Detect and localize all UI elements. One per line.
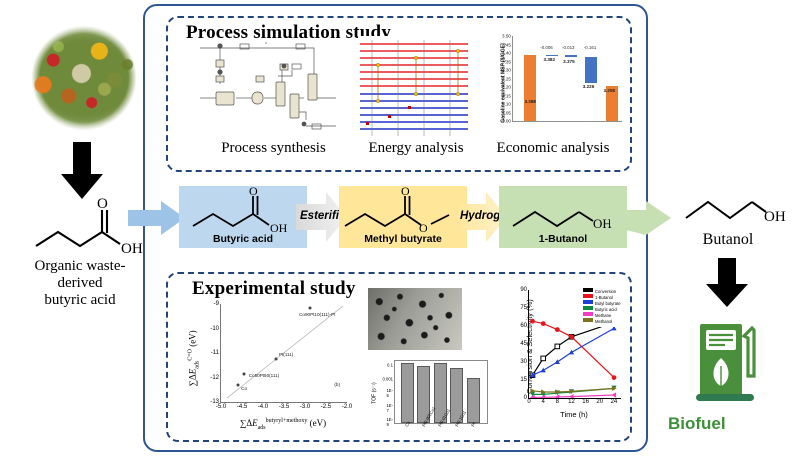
econ-ytick: 3.45 [502,42,511,47]
svg-text:O: O [249,186,258,198]
organic-waste-photo [20,22,148,134]
butanol-label: Butanol [668,231,788,249]
dft-xtick: -3.5 [279,404,289,410]
econ-ytick: 3.15 [502,93,511,98]
butanol-structure: OH [678,188,788,236]
kin-xtick: 4 [541,399,544,405]
source-label-line2: derived [0,275,160,292]
kinetics-legend: Conversion 1-Butanol Butyl butyrate Buty… [581,288,623,327]
kinetics-line-chart: Conversion & Selectivity (%) 0 15 30 45 … [502,286,630,436]
butyric-acid-skeletal: O OH [179,186,307,236]
econ-ytick: 3.00 [502,119,511,124]
legend-swatch-1-butanol [583,294,593,298]
dft-y-axis-label: ∑ΔEadsC=O (eV) [188,330,201,386]
tof-bar-co [401,363,414,423]
svg-text:O: O [97,196,108,212]
kinetics-plot-area: 0 15 30 45 60 75 90 0 4 8 12 16 20 24 [528,290,621,399]
dft-ytick: -12 [210,375,219,381]
down-arrow-icon-waste [60,142,104,200]
dft-xtick: -5.0 [216,404,226,410]
tof-ytick: 0.001 [383,376,393,381]
kin-ytick: 60 [520,323,527,329]
legend-swatch-methanol [583,318,593,322]
methyl-butyrate-skeletal: O O [339,186,467,236]
dft-xtick: -4.0 [258,404,268,410]
kinetics-x-axis-label: Time (h) [528,410,620,419]
econ-value-1: 3.382 [544,57,556,62]
econ-bar-delta-3 [585,57,597,82]
dft-point-label-pt111: Pt(111) [279,352,293,357]
reaction-label-butyric-acid: Butyric acid [179,233,307,245]
svg-text:O: O [401,186,410,198]
kin-xtick: 0 [527,399,530,405]
dft-ytick: -10 [210,326,219,332]
dft-point-label-co50pt50: Co50Pt50(111) [249,373,279,378]
source-label-line1: Organic waste- [0,258,160,275]
econ-bar-base [524,55,536,121]
economic-analysis-chart: Gasoline equivalent MSP [$/GGE] 3.50 3.4… [478,30,624,136]
tem-micrograph [368,288,462,350]
legend-swatch-butyl-butyrate [583,300,593,304]
econ-bar-delta-1 [546,55,558,56]
fuel-pump-leaf-icon [692,316,768,408]
experimental-panel-title: Experimental study [192,278,356,300]
kin-xtick: 24 [611,399,618,405]
dft-point-label-co90pt10: Co90Pt10(111)-Pt [299,312,335,317]
dft-xtick: -4.5 [237,404,247,410]
dft-xtick: -2.5 [321,404,331,410]
kin-ytick: 75 [520,305,527,311]
aspen-flowsheet-thumbnail [196,36,351,140]
reaction-label-methyl-butyrate: Methyl butyrate [339,233,467,245]
econ-delta-2: -0.013 [562,45,574,50]
tof-ytick: 1E-7 [386,403,393,413]
butanol-skeletal: OH [499,186,627,236]
tof-bar-pt [467,378,480,423]
reaction-box-methyl-butyrate: O O Methyl butyrate [339,186,467,248]
legend-swatch-butyric-acid [583,306,593,310]
econ-ytick: 3.35 [502,59,511,64]
dft-point-co50pt50 [243,372,246,375]
econ-ytick: 3.05 [502,110,511,115]
caption-process-synthesis: Process synthesis [186,140,361,157]
econ-ytick: 3.50 [502,34,511,39]
dft-point-co [236,383,239,386]
dft-ytick: -11 [211,350,219,356]
tof-ytick: 1E-5 [386,388,393,398]
econ-bar-delta-2 [565,55,577,57]
caption-energy-analysis: Energy analysis [356,140,476,157]
econ-ytick: 3.10 [502,102,511,107]
econ-value-base: 3.388 [524,99,536,104]
econ-delta-3: -0.161 [584,45,596,50]
econ-value-final: 3.208 [603,88,615,93]
svg-text:OH: OH [593,216,612,231]
kin-ytick: 15 [520,377,527,383]
econ-ytick: 3.20 [502,85,511,90]
kin-xtick: 8 [556,399,559,405]
tof-y-axis-label: TOF (s⁻¹) [372,382,378,403]
dft-point-label-co: Co [241,386,247,391]
reaction-box-1-butanol: OH 1-Butanol [499,186,627,248]
dft-scatter-chart: ∑ΔEadsC=O (eV) -9 -10 -11 -12 -13 -5.0 -… [190,300,355,440]
energy-analysis-thumbnail [358,36,470,140]
dft-xtick: -3.0 [300,404,310,410]
dft-panel-annotation: (b) [334,382,340,387]
legend-swatch-conversion [583,288,593,292]
econ-ytick: 3.40 [502,51,511,56]
svg-text:OH: OH [121,241,143,257]
svg-text:OH: OH [764,209,786,225]
dft-x-axis-label: ∑ΔEadsbutyryl+methoxy (eV) [208,418,358,431]
dft-point-co90pt10 [309,306,312,309]
econ-plot-area: 3.50 3.45 3.40 3.35 3.30 3.25 3.20 3.15 … [512,36,622,122]
tof-bar-chart: TOF (s⁻¹) 0.1 0.001 1E-5 1E-7 1E-9 Co Pt… [368,356,492,440]
reaction-label-1-butanol: 1-Butanol [499,233,627,245]
source-material-label: Organic waste- derived butyric acid [0,258,160,308]
econ-value-3: 3.226 [583,84,595,89]
dft-point-pt111 [274,358,277,361]
source-label-line3: butyric acid [0,292,160,309]
caption-economic-analysis: Economic analysis [478,140,628,157]
inlet-arrow-icon [128,200,186,236]
biofuel-label: Biofuel [668,414,788,434]
legend-item-methanol: Methanol [583,319,621,325]
tof-ytick: 1E-9 [386,417,393,427]
kin-xtick: 16 [582,399,589,405]
legend-swatch-methane [583,312,593,316]
outlet-arrow-icon [610,200,672,236]
kin-xtick: 20 [596,399,603,405]
dft-plot-area: -9 -10 -11 -12 -13 -5.0 -4.5 -4.0 -3.5 -… [220,304,347,403]
econ-value-2: 3.375 [563,59,575,64]
dft-xtick: -2.0 [342,404,352,410]
tof-xtick: Co [404,420,411,427]
down-arrow-icon-butanol [706,258,750,308]
tof-plot-area: 0.1 0.001 1E-5 1E-7 1E-9 Co Pt0.001Co1 P… [394,360,488,424]
kin-ytick: 90 [520,287,527,293]
econ-ytick: 3.30 [502,68,511,73]
kin-ytick: 45 [520,341,527,347]
kin-ytick: 30 [520,359,527,365]
kin-xtick: 12 [568,399,575,405]
dft-ytick: -9 [214,301,219,307]
econ-delta-1: -0.006 [540,45,552,50]
tof-ytick: 0.1 [387,362,393,367]
econ-ytick: 3.25 [502,76,511,81]
reaction-box-butyric-acid: O OH Butyric acid [179,186,307,248]
